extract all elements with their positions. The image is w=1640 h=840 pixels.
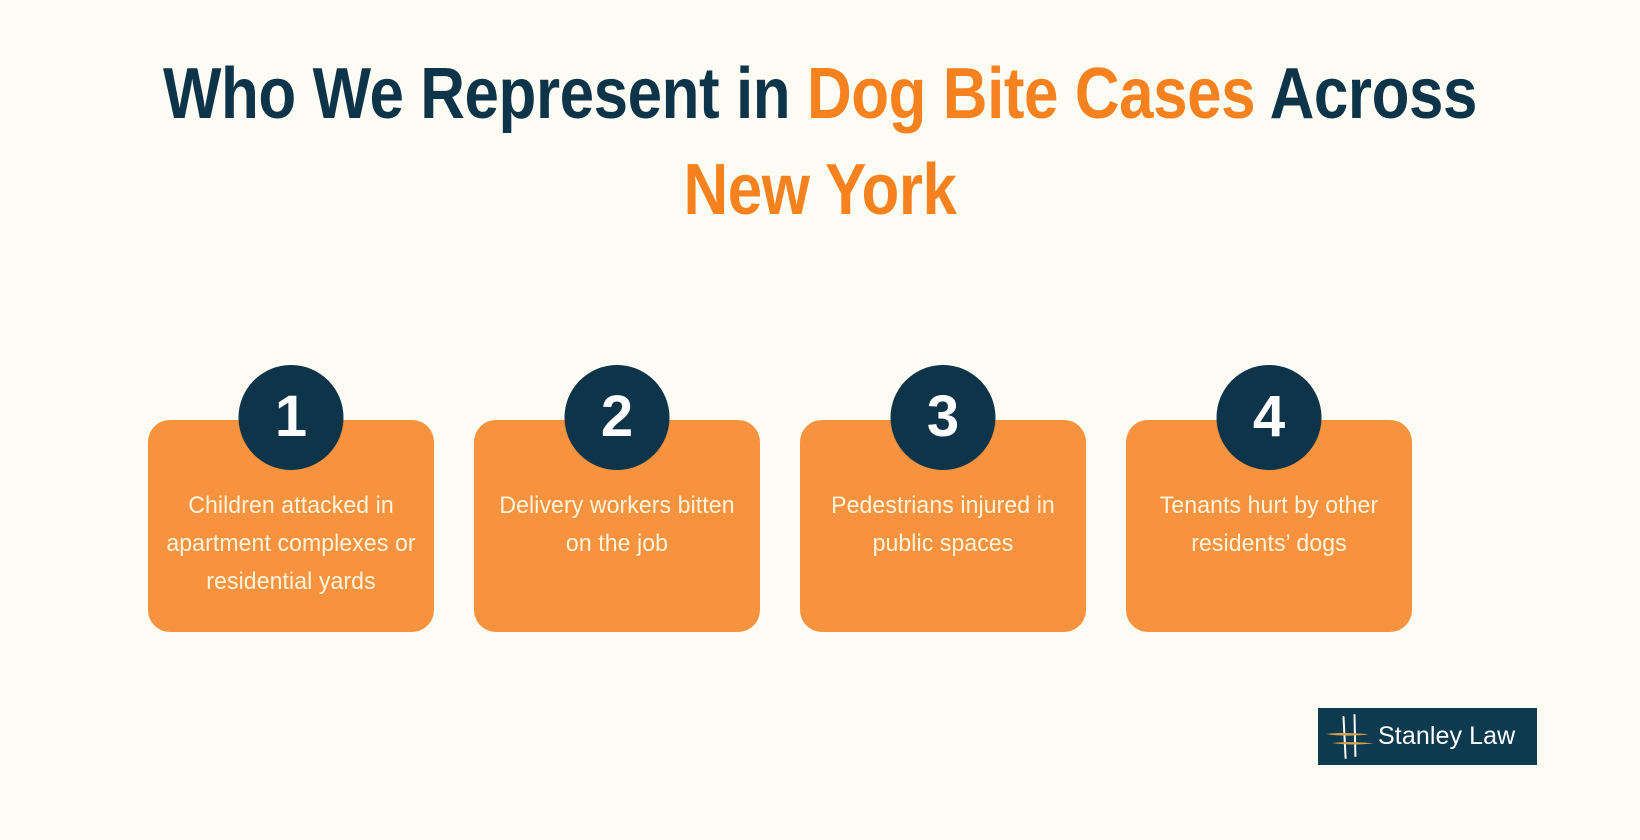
card-2[interactable]: 2 Delivery workers bitten on the job	[474, 365, 760, 632]
page-title: Who We Represent in Dog Bite Cases Acros…	[0, 46, 1640, 238]
hash-crosshatch-icon	[1324, 712, 1376, 762]
card-3[interactable]: 3 Pedestrians injured in public spaces	[800, 365, 1086, 632]
brand-logo[interactable]: Stanley Law	[1318, 708, 1537, 765]
page-title-segment-navy-2: Across	[1255, 54, 1477, 134]
page-title-line-1: Who We Represent in Dog Bite Cases Acros…	[115, 46, 1525, 142]
card-1-label: Children attacked in apartment complexes…	[165, 487, 417, 601]
card-2-number-badge: 2	[565, 365, 670, 470]
page-title-segment-accent-2: New York	[683, 150, 956, 230]
card-3-number-badge: 3	[891, 365, 996, 470]
card-3-label: Pedestrians injured in public spaces	[817, 487, 1069, 563]
card-4-number-badge: 4	[1217, 365, 1322, 470]
page-title-segment-accent: Dog Bite Cases	[807, 54, 1255, 134]
cards-row: 1 Children attacked in apartment complex…	[148, 365, 1426, 632]
card-4[interactable]: 4 Tenants hurt by other residents’ dogs	[1126, 365, 1412, 632]
page-title-segment-navy-1: Who We Represent in	[163, 54, 807, 134]
brand-logo-text: Stanley Law	[1378, 722, 1515, 751]
card-1-number-badge: 1	[239, 365, 344, 470]
page-title-line-2: New York	[115, 142, 1525, 238]
card-4-label: Tenants hurt by other residents’ dogs	[1143, 487, 1395, 563]
card-1[interactable]: 1 Children attacked in apartment complex…	[148, 365, 434, 632]
card-2-label: Delivery workers bitten on the job	[491, 487, 743, 563]
